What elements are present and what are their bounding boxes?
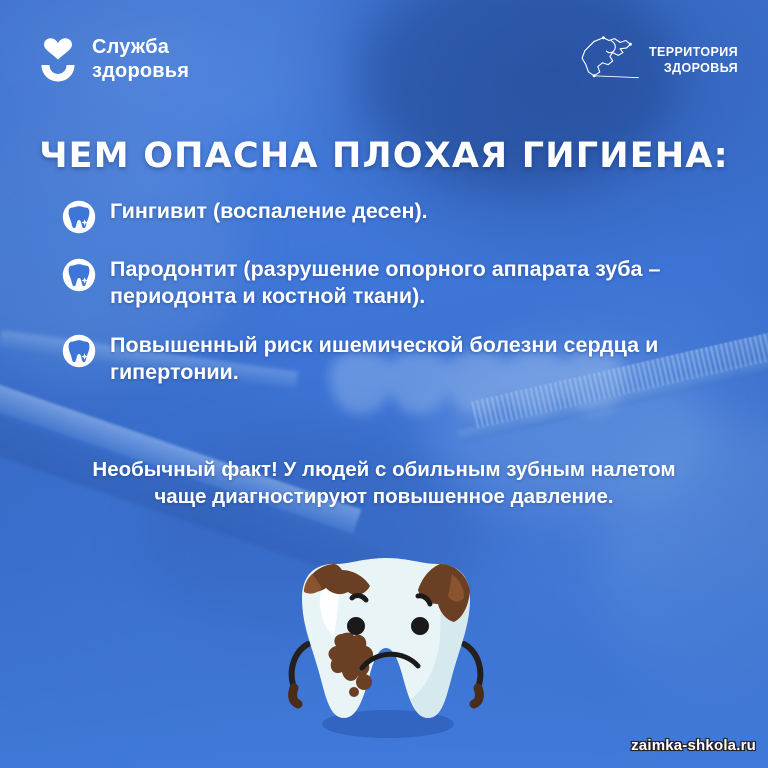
risk-list: Гингивит (воспаление десен). Пародонтит … bbox=[62, 198, 722, 408]
brand-right-label: ТЕРРИТОРИЯ ЗДОРОВЬЯ bbox=[649, 44, 738, 77]
list-item-label: Пародонтит (разрушение опорного аппарата… bbox=[110, 256, 722, 310]
heart-smile-logo-icon bbox=[38, 37, 78, 83]
brand-territoriya-zdorovya: ТЕРРИТОРИЯ ЗДОРОВЬЯ bbox=[577, 34, 738, 86]
list-item: Повышенный риск ишемической болезни серд… bbox=[62, 332, 722, 386]
tooth-icon bbox=[62, 200, 96, 234]
site-watermark: zaimka-shkola.ru bbox=[631, 737, 756, 754]
fact-text: Необычный факт! У людей с обильным зубны… bbox=[70, 456, 698, 511]
page-title: ЧЕМ ОПАСНА ПЛОХАЯ ГИГИЕНА: bbox=[0, 136, 768, 176]
sad-tooth-mascot bbox=[268, 548, 504, 748]
list-item: Гингивит (воспаление десен). bbox=[62, 198, 722, 234]
tooth-icon bbox=[62, 334, 96, 368]
list-item-label: Гингивит (воспаление десен). bbox=[110, 198, 428, 225]
list-item-label: Повышенный риск ишемической болезни серд… bbox=[110, 332, 722, 386]
brand-left-label: Служба здоровья bbox=[92, 36, 189, 83]
tooth-icon bbox=[62, 258, 96, 292]
poster-root: Служба здоровья ТЕРРИТОРИЯ ЗДОРОВЬЯ ЧЕМ … bbox=[0, 0, 768, 768]
header: Служба здоровья ТЕРРИТОРИЯ ЗДОРОВЬЯ bbox=[0, 0, 768, 116]
list-item: Пародонтит (разрушение опорного аппарата… bbox=[62, 256, 722, 310]
sad-tooth-illustration bbox=[268, 548, 504, 748]
brand-sluzhba-zdorovya: Служба здоровья bbox=[38, 36, 189, 83]
region-map-outline-icon bbox=[577, 34, 641, 86]
